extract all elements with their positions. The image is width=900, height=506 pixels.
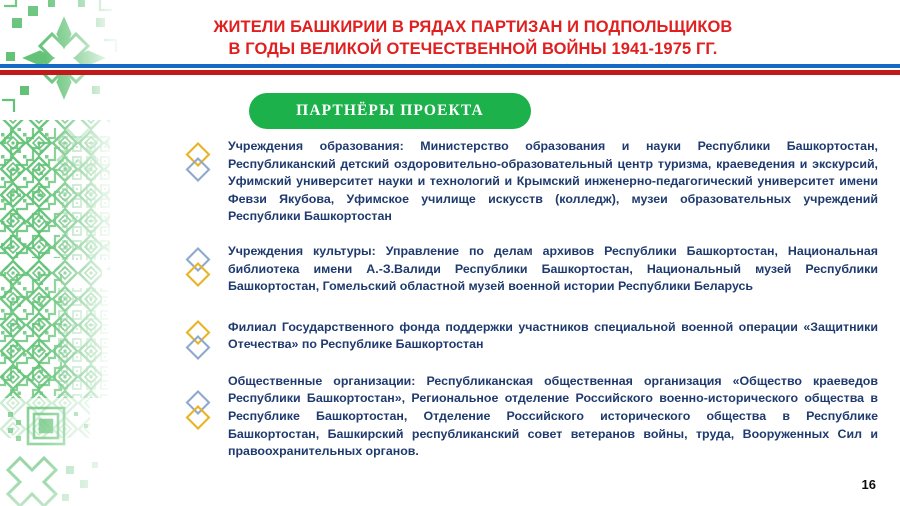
list-item-text: Филиал Государственного фонда поддержки …	[228, 318, 878, 354]
section-header-label: ПАРТНЁРЫ ПРОЕКТА	[296, 102, 484, 120]
list-item: Общественные организации: Республиканска…	[176, 372, 878, 461]
ornament-horizontal-fade	[0, 0, 132, 506]
partners-list: Учреждения образования: Министерство обр…	[176, 137, 878, 461]
ornament-vertical-fade	[0, 0, 132, 506]
list-item-text: Учреждения культуры: Управление по делам…	[228, 242, 878, 296]
divider-rule-red	[0, 70, 900, 75]
section-header-pill: ПАРТНЁРЫ ПРОЕКТА	[249, 93, 531, 129]
list-item: Учреждения образования: Министерство обр…	[176, 137, 878, 226]
list-item-text: Общественные организации: Республиканска…	[228, 372, 878, 461]
page-number: 16	[862, 477, 876, 492]
list-item: Филиал Государственного фонда поддержки …	[176, 318, 878, 362]
double-diamond-gold-over-blue-icon	[176, 140, 220, 184]
slide-title-line-2: В ГОДЫ ВЕЛИКОЙ ОТЕЧЕСТВЕННОЙ ВОЙНЫ 1941-…	[118, 38, 828, 60]
double-diamond-blue-over-gold-icon	[176, 245, 220, 289]
double-diamond-gold-over-blue-icon	[176, 318, 220, 362]
bashkir-ornament-band	[0, 0, 132, 506]
double-diamond-blue-over-gold-icon	[176, 388, 220, 432]
slide-title-line-1: ЖИТЕЛИ БАШКИРИИ В РЯДАХ ПАРТИЗАН И ПОДПО…	[118, 16, 828, 38]
slide-canvas: ЖИТЕЛИ БАШКИРИИ В РЯДАХ ПАРТИЗАН И ПОДПО…	[0, 0, 900, 506]
slide-title: ЖИТЕЛИ БАШКИРИИ В РЯДАХ ПАРТИЗАН И ПОДПО…	[118, 16, 828, 60]
list-item-text: Учреждения образования: Министерство обр…	[228, 137, 878, 226]
list-item: Учреждения культуры: Управление по делам…	[176, 242, 878, 296]
